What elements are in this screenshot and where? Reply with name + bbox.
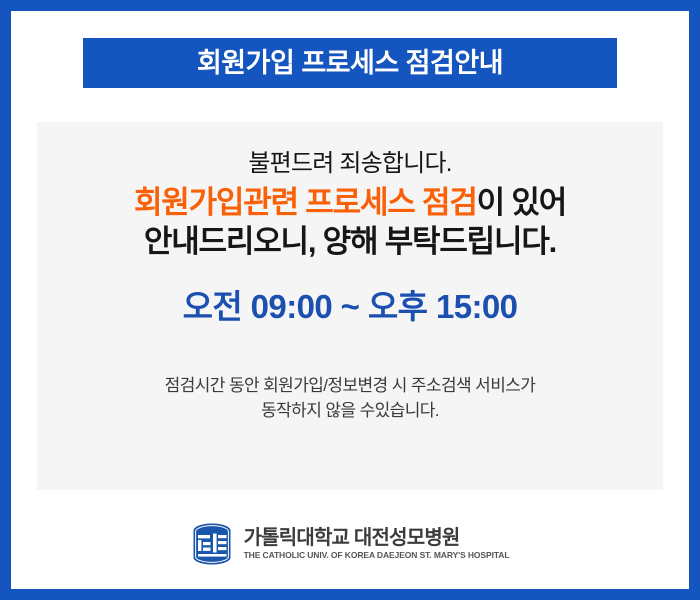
header-banner: 회원가입 프로세스 점검안내 xyxy=(83,38,617,88)
footer-logo: 가톨릭대학교 대전성모병원 THE CATHOLIC UNIV. OF KORE… xyxy=(11,516,689,572)
apology-text: 불편드려 죄송합니다. xyxy=(37,148,663,179)
emphasis-line-2: 안내드리오니, 양해 부탁드립니다. xyxy=(37,222,663,261)
page-inner-surface: 회원가입 프로세스 점검안내 불편드려 죄송합니다. 회원가입관련 프로세스 점… xyxy=(11,11,689,589)
hospital-name-korean: 가톨릭대학교 대전성모병원 xyxy=(244,528,510,549)
page-blue-border: 회원가입 프로세스 점검안내 불편드려 죄송합니다. 회원가입관련 프로세스 점… xyxy=(0,0,700,600)
emphasis-highlight-text: 회원가입관련 프로세스 점검 xyxy=(134,185,477,220)
notice-panel: 불편드려 죄송합니다. 회원가입관련 프로세스 점검이 있어 안내드리오니, 양… xyxy=(37,122,663,490)
footnote-line-1: 점검시간 동안 회원가입/정보변경 시 주소검색 서비스가 xyxy=(37,374,663,399)
hospital-name-english: THE CATHOLIC UNIV. OF KOREA DAEJEON ST. … xyxy=(244,551,510,560)
footnote-line-2: 동작하지 않을 수있습니다. xyxy=(37,399,663,424)
page-title: 회원가입 프로세스 점검안내 xyxy=(197,50,503,77)
notice-footnote-block: 점검시간 동안 회원가입/정보변경 시 주소검색 서비스가 동작하지 않을 수있… xyxy=(37,374,663,423)
hospital-emblem-icon xyxy=(191,522,233,566)
emphasis-tail-text: 이 있어 xyxy=(477,185,566,220)
emphasis-line-1: 회원가입관련 프로세스 점검이 있어 xyxy=(37,183,663,222)
maintenance-time-range: 오전 09:00 ~ 오후 15:00 xyxy=(37,290,663,323)
logo-text-group: 가톨릭대학교 대전성모병원 THE CATHOLIC UNIV. OF KORE… xyxy=(244,528,510,560)
notice-message-block: 불편드려 죄송합니다. 회원가입관련 프로세스 점검이 있어 안내드리오니, 양… xyxy=(37,148,663,261)
